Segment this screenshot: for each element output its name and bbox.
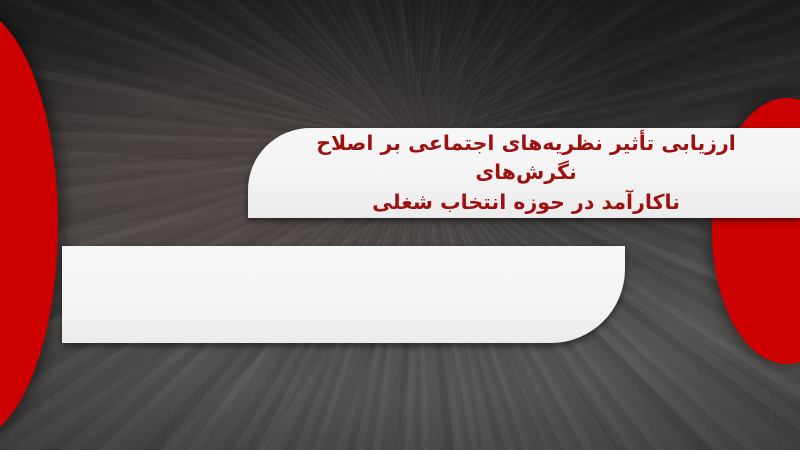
title-placeholder[interactable]: ارزیابی تأثیر نظریه‌های اجتماعی بر اصلاح…: [248, 128, 800, 218]
subtitle-placeholder[interactable]: [62, 246, 625, 343]
slide-title-text: ارزیابی تأثیر نظریه‌های اجتماعی بر اصلاح…: [274, 129, 778, 216]
title-slide: ارزیابی تأثیر نظریه‌های اجتماعی بر اصلاح…: [0, 0, 800, 450]
background-vignette: [0, 0, 800, 450]
